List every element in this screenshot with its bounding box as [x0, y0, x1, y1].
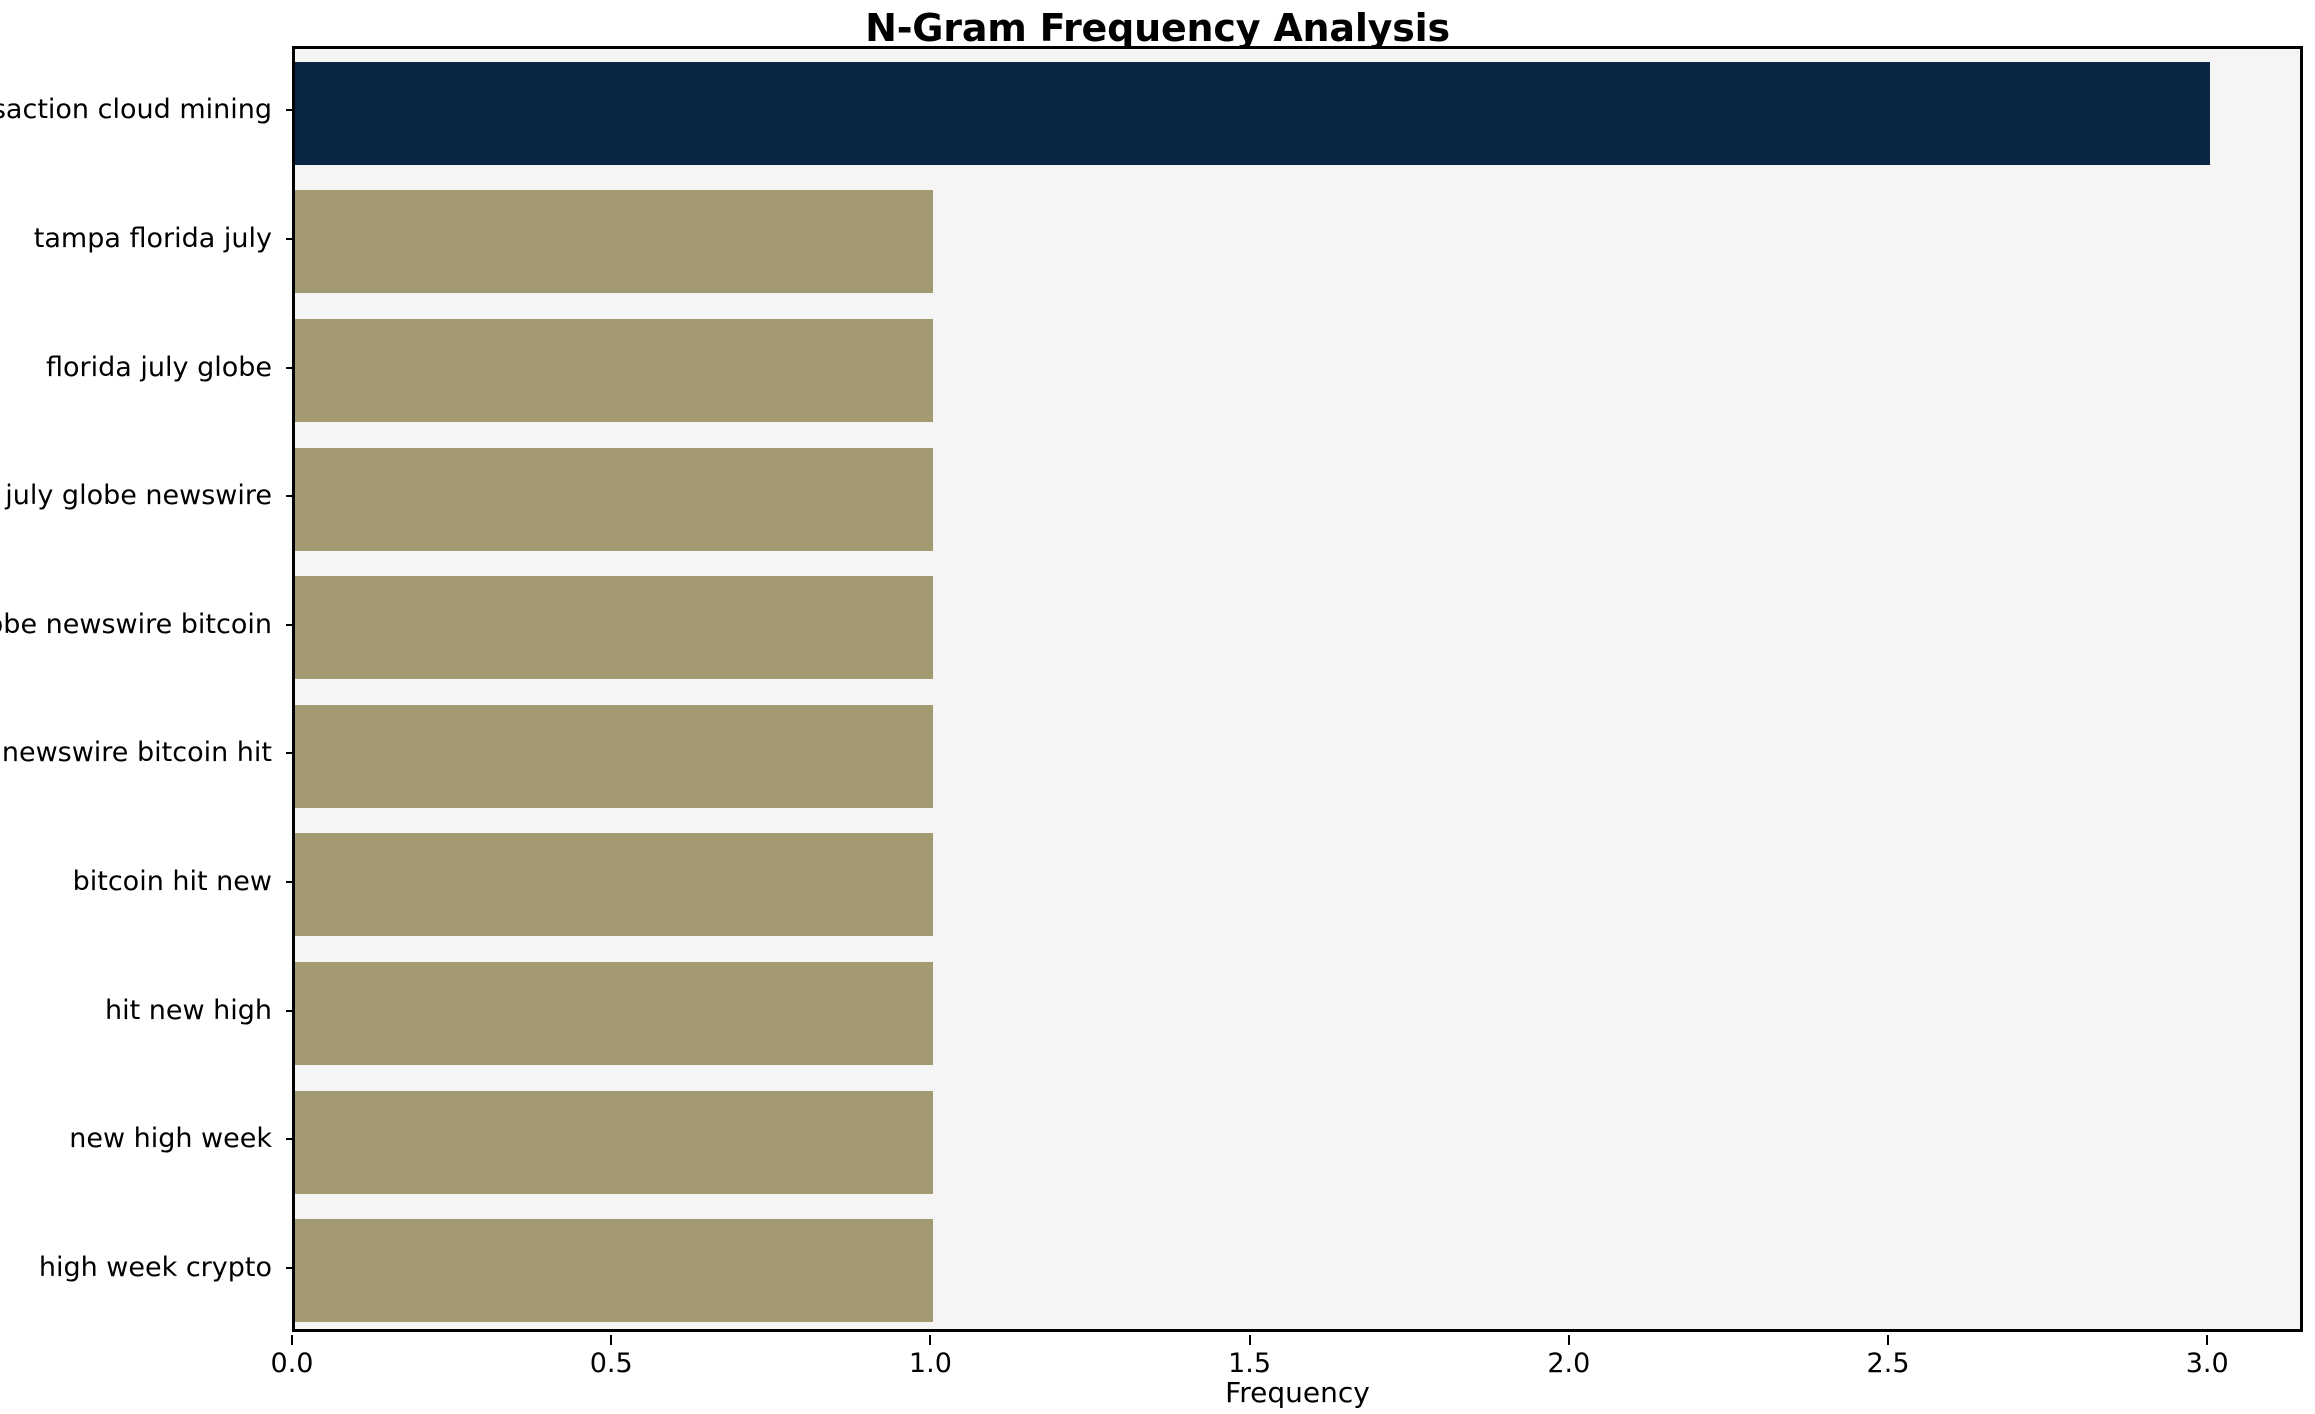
bar [295, 833, 933, 936]
page-title: N-Gram Frequency Analysis [0, 6, 2315, 50]
plot-area [292, 46, 2303, 1332]
x-axis-tick-label: 0.0 [271, 1349, 314, 1379]
bar [295, 190, 933, 293]
bar-row [295, 1219, 2300, 1322]
y-axis-tick-label: new high week [69, 1124, 272, 1154]
y-axis-labels: ethransaction cloud miningtampa florida … [0, 46, 286, 1332]
bar [295, 448, 933, 551]
bar [295, 705, 933, 808]
x-axis-title: Frequency [292, 1377, 2303, 1409]
bar-row [295, 319, 2300, 422]
bar-row [295, 190, 2300, 293]
bar-row [295, 62, 2300, 165]
x-axis-tick-mark [1249, 1335, 1251, 1345]
y-axis-tick-label: ethransaction cloud mining [0, 95, 272, 125]
y-axis-tick-label: july globe newswire [5, 481, 272, 511]
x-axis-tick-label: 0.5 [590, 1349, 633, 1379]
y-axis-tick-label: tampa florida july [34, 224, 272, 254]
x-axis-tick-label: 3.0 [2186, 1349, 2229, 1379]
bar [295, 962, 933, 1065]
x-axis-tick-mark [610, 1335, 612, 1345]
y-axis-tick-label: hit new high [105, 996, 272, 1026]
x-axis-tick-label: 2.0 [1547, 1349, 1590, 1379]
x-axis-tick-mark [1568, 1335, 1570, 1345]
x-axis-tick-mark [2206, 1335, 2208, 1345]
bar [295, 576, 933, 679]
x-axis-tick-label: 1.0 [909, 1349, 952, 1379]
x-axis-tick-mark [1887, 1335, 1889, 1345]
bar-row [295, 576, 2300, 679]
y-axis-tick-label: newswire bitcoin hit [2, 738, 272, 768]
y-axis-tick-label: high week crypto [39, 1253, 272, 1283]
x-axis-tick-label: 2.5 [1867, 1349, 1910, 1379]
bar-row [295, 1091, 2300, 1194]
bars-layer [295, 49, 2300, 1329]
x-axis-tick-mark [929, 1335, 931, 1345]
x-axis-tick-mark [291, 1335, 293, 1345]
bar-row [295, 962, 2300, 1065]
y-axis-tick-label: globe newswire bitcoin [0, 610, 272, 640]
bar [295, 319, 933, 422]
chart-figure: N-Gram Frequency Analysis ethransaction … [0, 0, 2315, 1414]
bar [295, 1091, 933, 1194]
bar-row [295, 448, 2300, 551]
y-axis-tick-label: florida july globe [46, 353, 272, 383]
x-axis-tick-label: 1.5 [1228, 1349, 1271, 1379]
bar [295, 62, 2210, 165]
bar-row [295, 705, 2300, 808]
bar [295, 1219, 933, 1322]
bar-row [295, 833, 2300, 936]
y-axis-tick-label: bitcoin hit new [73, 867, 272, 897]
